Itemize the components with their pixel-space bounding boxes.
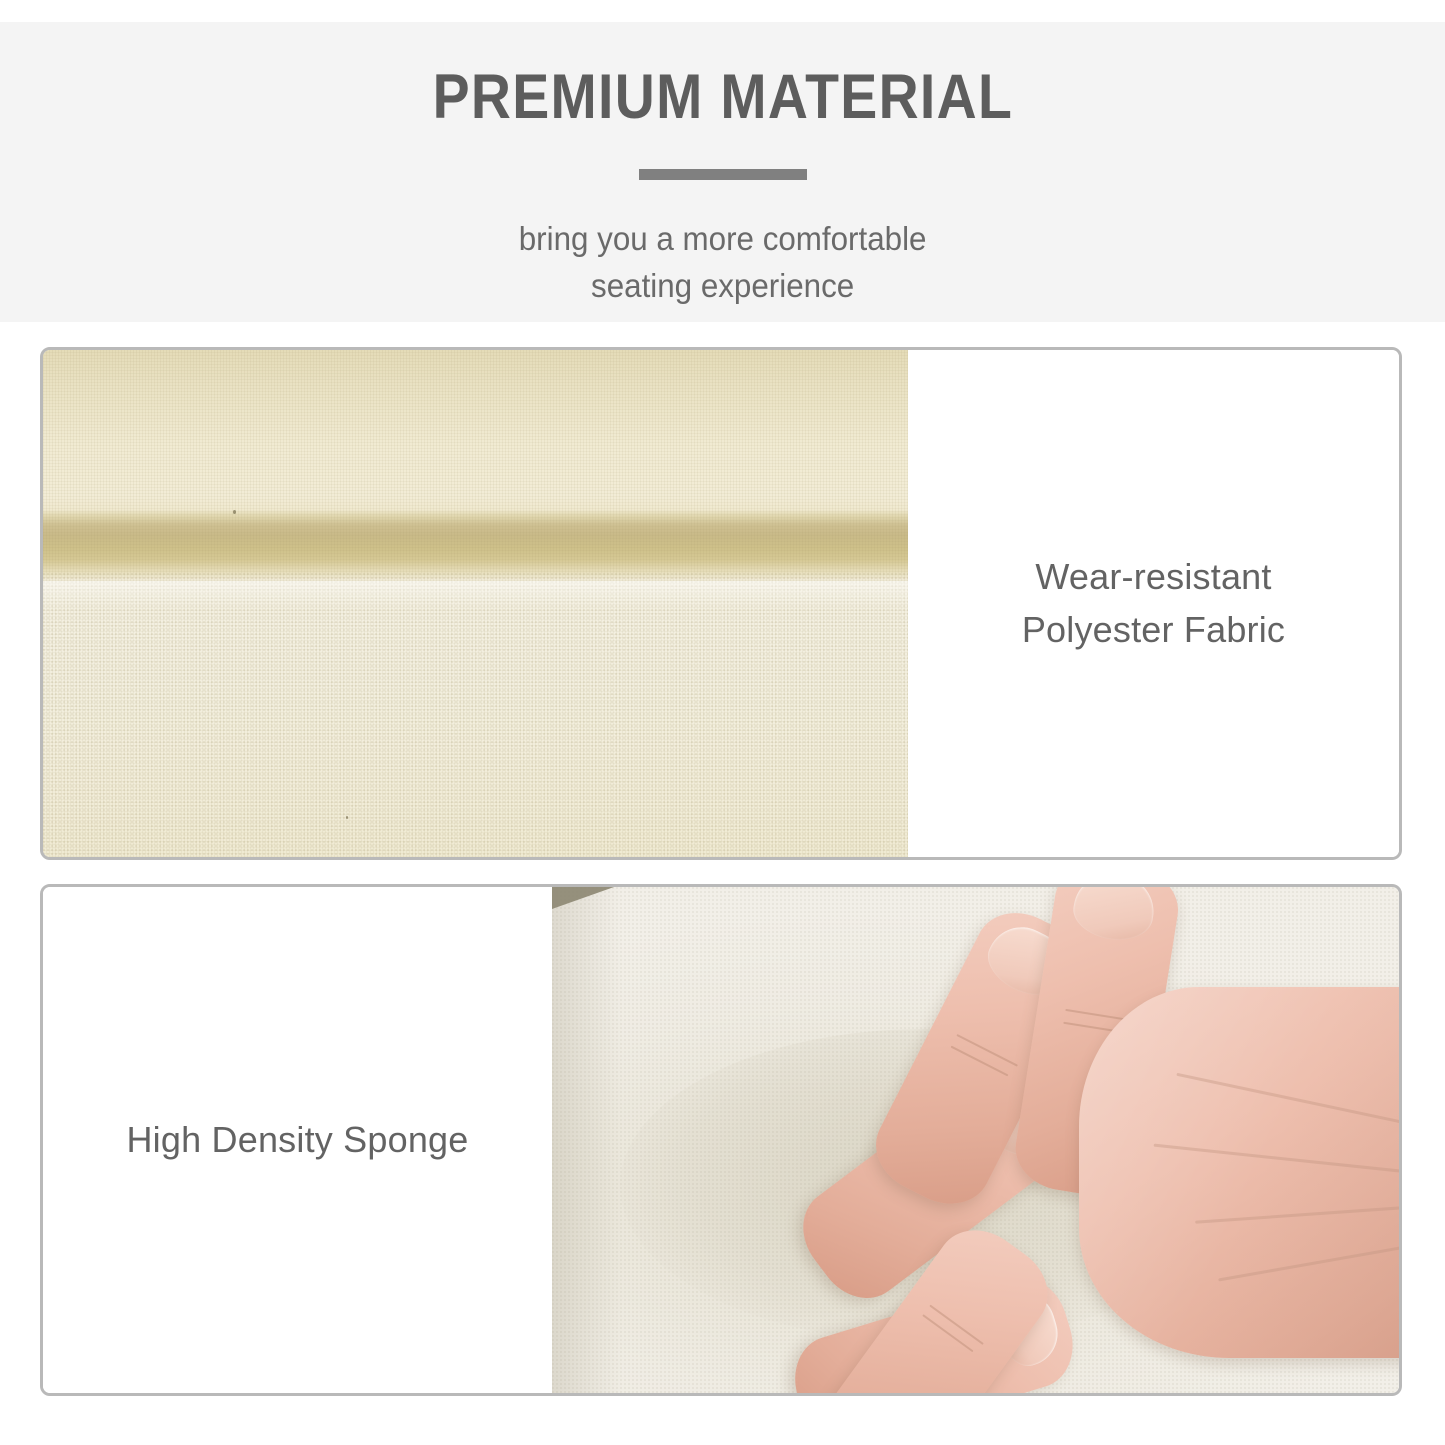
fabric-fold-highlight bbox=[43, 581, 908, 611]
hand-illustration bbox=[586, 897, 1399, 1393]
fabric-caption-area: Wear-resistant Polyester Fabric bbox=[908, 350, 1399, 857]
palm-shading bbox=[1079, 987, 1399, 1358]
fabric-caption-text: Wear-resistant Polyester Fabric bbox=[1022, 551, 1285, 655]
sponge-caption-line-1: High Density Sponge bbox=[126, 1114, 468, 1166]
panel-high-density-sponge: High Density Sponge bbox=[40, 884, 1402, 1396]
header-subtitle: bring you a more comfortable seating exp… bbox=[519, 216, 927, 310]
fabric-caption-line-2: Polyester Fabric bbox=[1022, 604, 1285, 656]
sponge-caption-text: High Density Sponge bbox=[126, 1114, 468, 1166]
hand-palm-back bbox=[1079, 987, 1399, 1358]
fabric-lower-weave-texture bbox=[43, 573, 908, 857]
page-title: PREMIUM MATERIAL bbox=[432, 66, 1013, 129]
sponge-caption-area: High Density Sponge bbox=[43, 887, 552, 1393]
fabric-photo bbox=[43, 350, 908, 857]
subtitle-line-1: bring you a more comfortable bbox=[519, 216, 927, 263]
knuckle-crease bbox=[950, 1046, 1008, 1077]
sponge-photo bbox=[552, 887, 1399, 1393]
fabric-caption-line-1: Wear-resistant bbox=[1022, 551, 1285, 603]
fingernail bbox=[829, 1387, 925, 1393]
title-divider bbox=[639, 169, 807, 180]
fingernail bbox=[1069, 887, 1158, 945]
panel-wear-resistant-polyester-fabric: Wear-resistant Polyester Fabric bbox=[40, 347, 1402, 860]
header-band: PREMIUM MATERIAL bring you a more comfor… bbox=[0, 22, 1445, 322]
knuckle-crease bbox=[956, 1034, 1017, 1067]
subtitle-line-2: seating experience bbox=[519, 263, 927, 310]
